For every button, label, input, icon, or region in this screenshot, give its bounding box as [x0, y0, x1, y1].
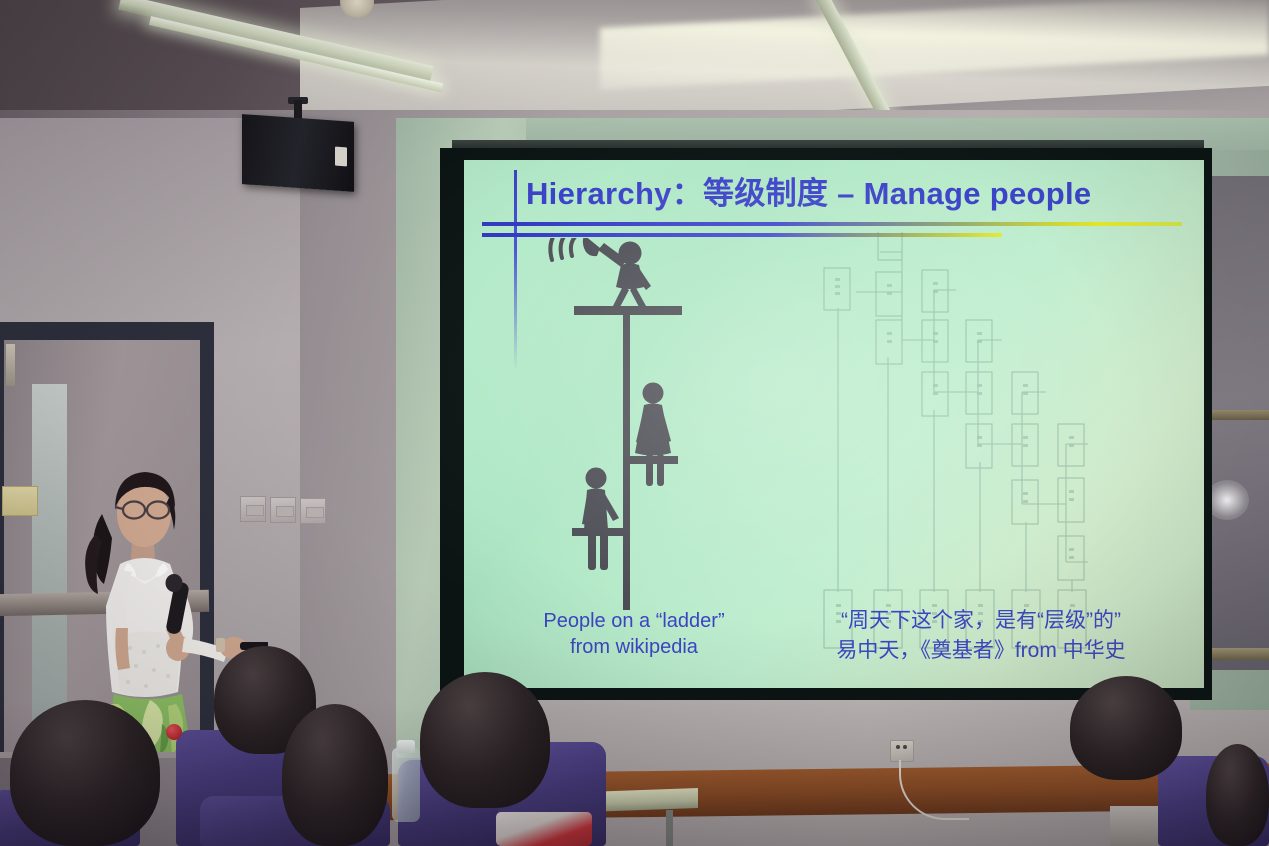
audience-head-right: [1070, 676, 1182, 780]
red-case: [496, 812, 592, 846]
caption-left-line1: People on a “ladder”: [508, 608, 760, 634]
title-accent-line-upper: [482, 222, 1182, 226]
faint-hierarchy-tree-chart: [816, 232, 1196, 652]
chalkboard-rail-lower: [1202, 648, 1269, 660]
audience-head-long-hair: [420, 672, 550, 808]
caption-left-line2: from wikipedia: [508, 634, 760, 660]
door-hinge-icon: [6, 344, 15, 386]
light-switch-3[interactable]: [300, 498, 326, 524]
audience-head-far-right: [1206, 744, 1269, 846]
lecture-hall-photo: Hierarchy：等级制度 – Manage people: [0, 0, 1269, 846]
water-bottle-cap: [397, 740, 415, 753]
projection-screen: Hierarchy：等级制度 – Manage people: [464, 160, 1204, 688]
power-outlet-icon: [890, 740, 914, 762]
slide-title: Hierarchy：等级制度 – Manage people: [526, 168, 1091, 213]
audience-head-front-center: [282, 704, 388, 846]
chalkboard-rail-upper: [1202, 410, 1269, 420]
caption-right: “周天下这个家，是有“层级”的” 易中天，《奠基者》from 中华史: [774, 606, 1188, 666]
red-chair-knob: [166, 724, 182, 740]
chalkboard: [1202, 176, 1269, 670]
title-vertical-accent-line: [514, 170, 517, 370]
door-sign: [2, 486, 38, 516]
light-switch-2[interactable]: [270, 497, 296, 523]
wall-speaker-icon: [242, 114, 354, 192]
audience-head-front-left: [10, 700, 160, 846]
people-on-a-ladder-icon: [520, 238, 740, 618]
speaker-brand-label: [335, 147, 347, 167]
table-leg-right: [666, 810, 673, 846]
water-bottle: [392, 748, 420, 822]
caption-left: People on a “ladder” from wikipedia: [508, 608, 760, 661]
caption-right-line2: 易中天，《奠基者》from 中华史: [774, 636, 1188, 666]
caption-right-line1: “周天下这个家，是有“层级”的”: [774, 606, 1188, 636]
